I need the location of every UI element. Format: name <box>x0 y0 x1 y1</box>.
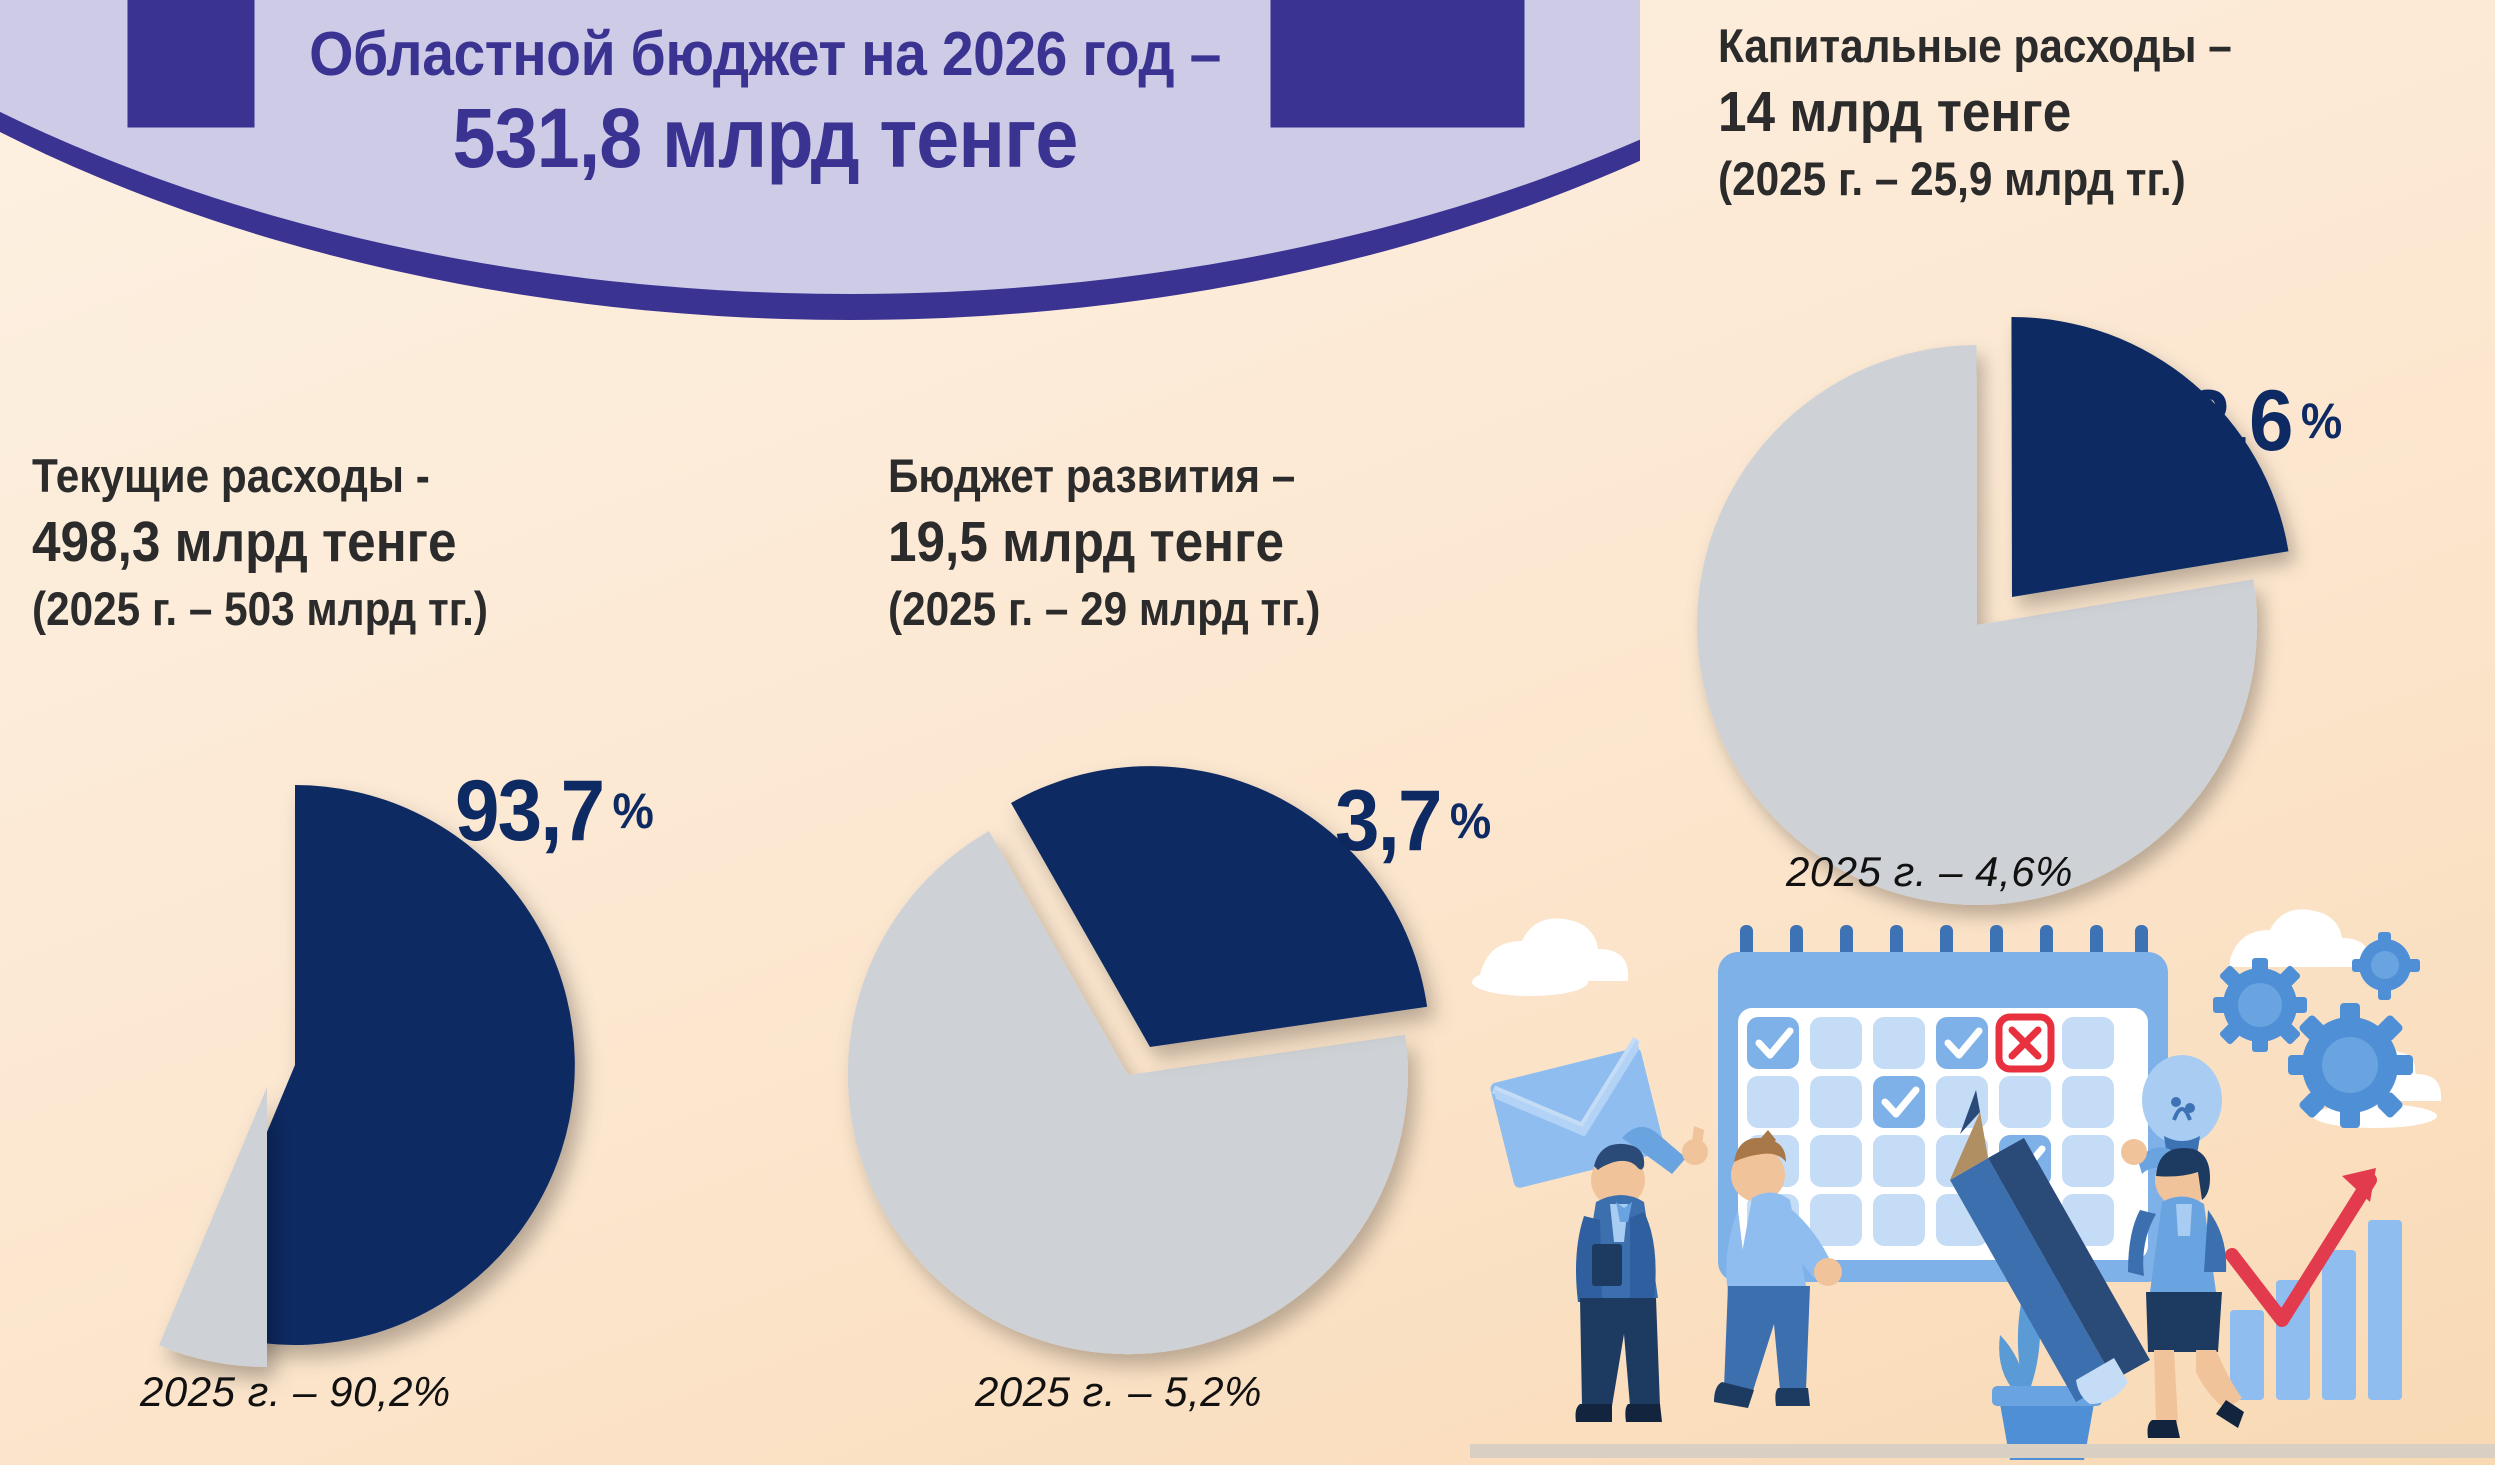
capital-expenses-amount: 14 млрд тенге <box>1718 80 2232 145</box>
banner-title-line1: Областной бюджет на 2026 год – <box>61 22 1469 87</box>
person-businessman <box>1576 1126 1709 1422</box>
bar-chart-icon <box>2230 1220 2402 1400</box>
team-calendar-planning-illustration <box>1470 880 2495 1465</box>
red-x-mark-icon <box>1999 1017 2051 1069</box>
gear-hub <box>2238 983 2282 1027</box>
block-current-expenses-text: Текущие расходы - 498,3 млрд тенге (2025… <box>32 450 539 635</box>
gear-hub <box>2371 951 2399 979</box>
cloud-icon <box>1472 918 1628 996</box>
banner-title-group: Областной бюджет на 2026 год – 531,8 млр… <box>0 0 1530 184</box>
current-expenses-title: Текущие расходы - <box>32 450 488 503</box>
banner-title-line2: 531,8 млрд тенге <box>61 93 1469 184</box>
ground-line <box>1470 1444 2495 1458</box>
capital-expenses-percent-symbol: % <box>2301 393 2342 449</box>
infographic-canvas: Областной бюджет на 2026 год – 531,8 млр… <box>0 0 2495 1465</box>
development-budget-prev-year: (2025 г. – 29 млрд тг.) <box>888 582 1320 636</box>
capital-expenses-percent-label: 2,6% <box>2186 378 2342 464</box>
current-expenses-prev-year: (2025 г. – 503 млрд тг.) <box>32 582 488 636</box>
current-expenses-amount: 498,3 млрд тенге <box>32 510 488 575</box>
gear-hub <box>2322 1037 2378 1093</box>
cloud-icon <box>2230 909 2370 967</box>
development-budget-title: Бюджет развития – <box>888 450 1320 503</box>
pie1-slice-other <box>159 1087 267 1367</box>
capital-expenses-title: Капитальные расходы – <box>1718 20 2232 73</box>
current-expenses-caption: 2025 г. – 90,2% <box>140 1368 451 1416</box>
development-budget-caption: 2025 г. – 5,2% <box>975 1368 1262 1416</box>
development-budget-amount: 19,5 млрд тенге <box>888 510 1320 575</box>
capital-expenses-percent-value: 2,6 <box>2186 373 2292 469</box>
capital-expenses-prev-year: (2025 г. – 25,9 млрд тг.) <box>1718 152 2232 206</box>
pie-chart-current-expenses <box>0 760 635 1380</box>
block-development-budget-text: Бюджет развития – 19,5 млрд тенге (2025 … <box>888 450 1368 635</box>
block-capital-expenses-text: Капитальные расходы – 14 млрд тенге (202… <box>1718 20 2289 205</box>
pie-chart-development-budget <box>838 775 1458 1375</box>
